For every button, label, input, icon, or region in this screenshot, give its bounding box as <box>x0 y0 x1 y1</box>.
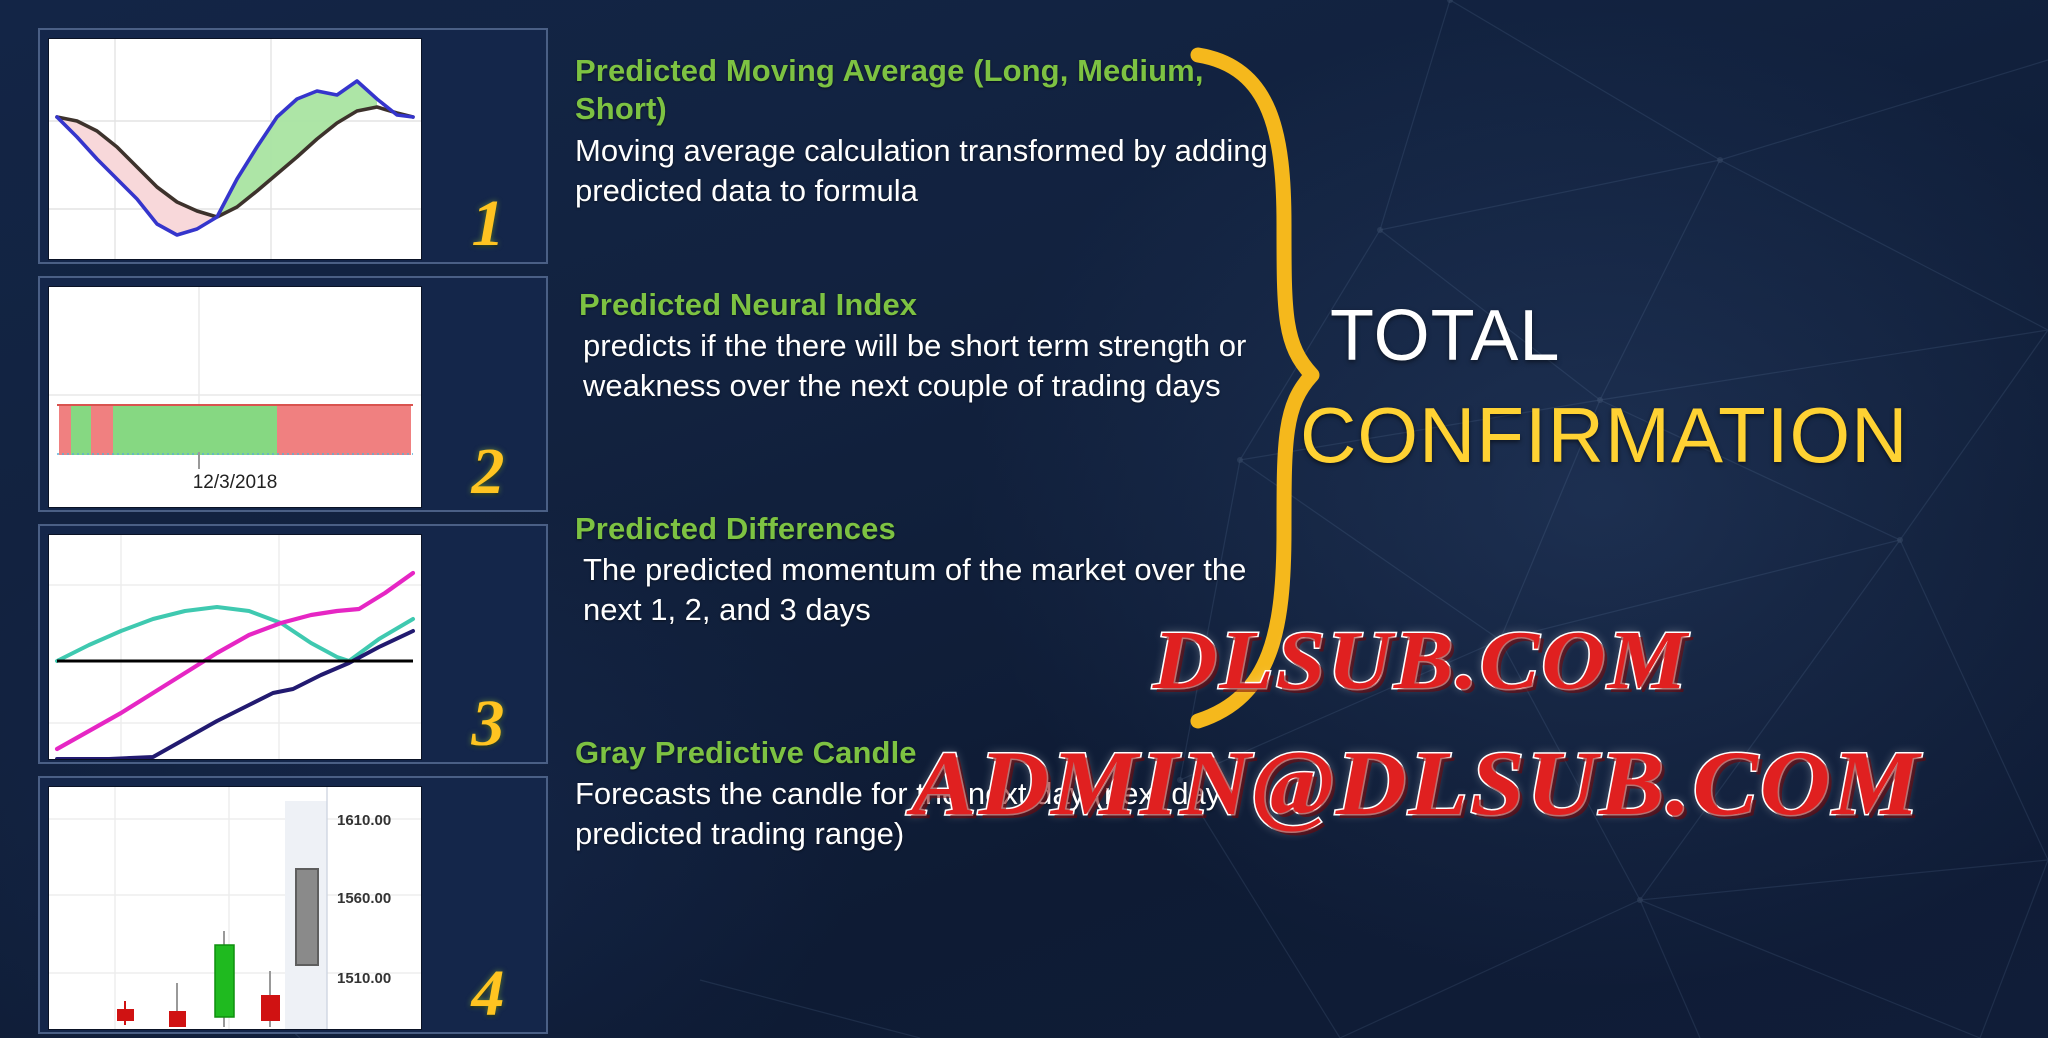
feature-block-2: Predicted Neural Index predicts if the t… <box>575 286 1295 486</box>
price-tick-2: 1560.00 <box>337 890 391 907</box>
chart-card-2[interactable]: 12/3/2018 2 <box>38 276 548 512</box>
feature-block-1: Predicted Moving Average (Long, Medium, … <box>575 52 1295 262</box>
predicted-differences-chart <box>48 534 422 760</box>
predicted-neural-index-chart: 12/3/2018 <box>48 286 422 508</box>
watermark-site: DLSUB.COM <box>1153 612 1689 709</box>
card-number-4: 4 <box>430 778 546 1032</box>
infographic-canvas: 1 <box>0 0 2048 1038</box>
neural-index-date-label: 12/3/2018 <box>193 472 278 493</box>
feature-body-2: predicts if the there will be short term… <box>575 326 1295 405</box>
card-number-2: 2 <box>430 278 546 510</box>
gray-predictive-candle-chart: 1610.00 1560.00 1510.00 <box>48 786 422 1030</box>
chart-card-1[interactable]: 1 <box>38 28 548 264</box>
price-tick-1: 1610.00 <box>337 812 391 829</box>
price-tick-3: 1510.00 <box>337 970 391 987</box>
callout-line-1: TOTAL <box>1330 300 2030 372</box>
feature-title-2: Predicted Neural Index <box>575 286 1295 324</box>
chart-card-4[interactable]: 1610.00 1560.00 1510.00 4 <box>38 776 548 1034</box>
chart-card-list: 1 <box>38 28 548 1038</box>
total-confirmation-callout: TOTAL CONFIRMATION <box>1330 300 2030 474</box>
watermark-email: ADMIN@DLSUB.COM <box>911 730 1921 836</box>
feature-title-3: Predicted Differences <box>575 510 1295 548</box>
chart-card-3[interactable]: 3 <box>38 524 548 764</box>
card-number-1: 1 <box>430 30 546 262</box>
predicted-moving-average-chart <box>48 38 422 260</box>
card-number-3: 3 <box>430 526 546 762</box>
feature-body-1: Moving average calculation transformed b… <box>575 131 1295 210</box>
feature-title-1: Predicted Moving Average (Long, Medium, … <box>575 52 1295 129</box>
callout-line-2: CONFIRMATION <box>1300 396 2030 474</box>
